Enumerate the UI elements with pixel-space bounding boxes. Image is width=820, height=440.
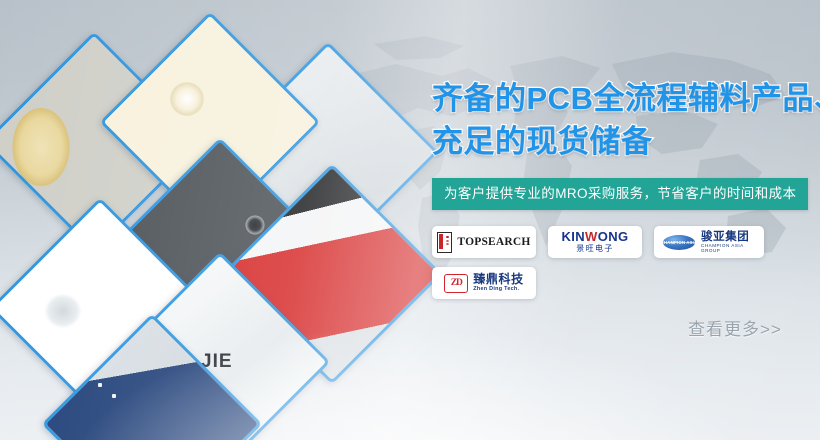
banner-content: 齐备的PCB全流程辅料产品、 充足的现货储备 为客户提供专业的MRO采购服务，节… [432,78,808,308]
logo-zhen-ding[interactable]: ZD 臻鼎科技 Zhen Ding Tech. [432,267,536,299]
champion-label-cn: 骏亚集团 [701,231,755,243]
partner-logo-group: TOPSEARCH KINWONG 景旺电子 CHAMPION ASIA 骏亚集… [432,226,792,299]
zhending-label-en: Zhen Ding Tech. [473,287,523,293]
champion-label-en: CHAMPION ASIA GROUP [701,244,755,254]
partner-logo-row-1: TOPSEARCH KINWONG 景旺电子 CHAMPION ASIA 骏亚集… [432,226,792,258]
zhending-mark-icon: ZD [444,274,468,293]
kinwong-label-en: KINWONG [561,230,628,244]
product-collage [0,34,412,434]
champion-text: 骏亚集团 CHAMPION ASIA GROUP [701,231,755,254]
zhending-text: 臻鼎科技 Zhen Ding Tech. [473,273,523,292]
topsearch-mark-icon [437,232,452,253]
view-more-link[interactable]: 查看更多>> [688,315,782,340]
logo-kinwong[interactable]: KINWONG 景旺电子 [548,226,642,258]
logo-champion-asia[interactable]: CHAMPION ASIA 骏亚集团 CHAMPION ASIA GROUP [654,226,764,258]
headline-line-1: 齐备的PCB全流程辅料产品、 [432,81,820,116]
banner-subtitle-bar: 为客户提供专业的MRO采购服务，节省客户的时间和成本 [432,178,808,211]
banner-headline: 齐备的PCB全流程辅料产品、 充足的现货储备 [432,78,808,164]
globe-label: CHAMPION ASIA [663,240,695,245]
globe-icon: CHAMPION ASIA [663,235,695,250]
topsearch-label: TOPSEARCH [457,236,530,248]
headline-line-2: 充足的现货储备 [432,121,808,164]
partner-logo-row-2: ZD 臻鼎科技 Zhen Ding Tech. [432,267,792,299]
kinwong-label-cn: 景旺电子 [576,244,614,254]
logo-topsearch[interactable]: TOPSEARCH [432,226,536,258]
promo-banner: 齐备的PCB全流程辅料产品、 充足的现货储备 为客户提供专业的MRO采购服务，节… [0,0,820,440]
zhending-label-cn: 臻鼎科技 [473,273,523,286]
